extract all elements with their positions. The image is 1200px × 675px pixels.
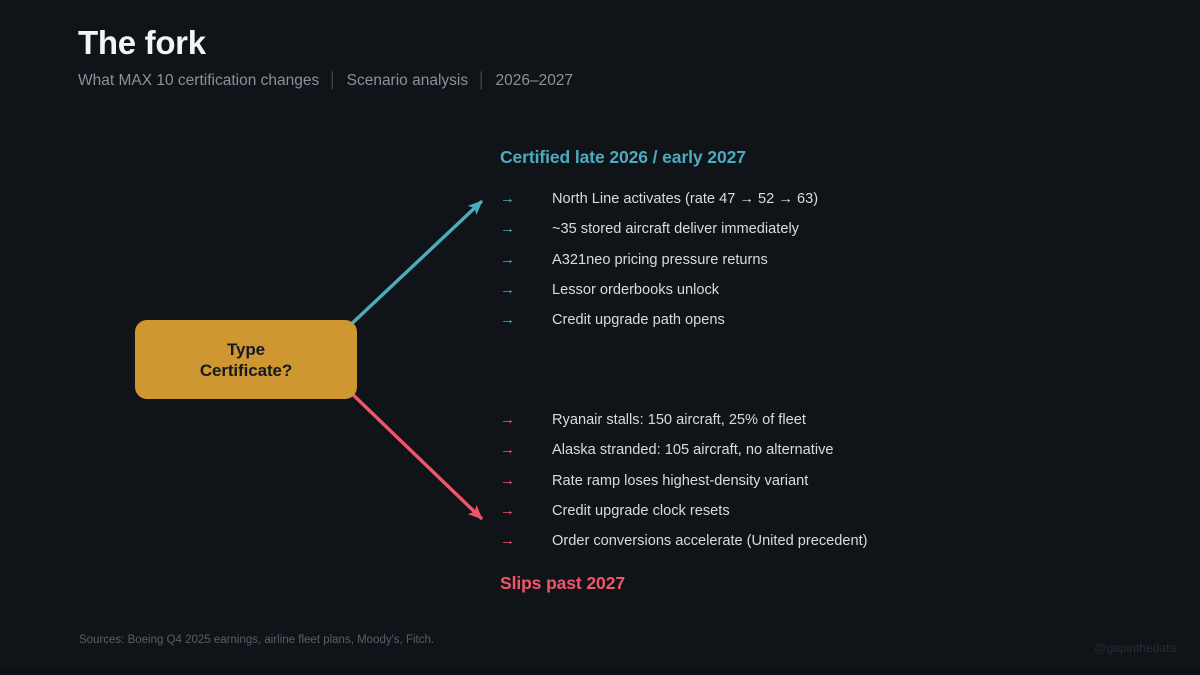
subtitle-separator-icon: │ [328,71,337,91]
list-item: → Rate ramp loses highest-density varian… [500,470,1040,500]
subtitle-separator-icon: │ [477,71,486,91]
decision-node-type-certificate[interactable]: Type Certificate? [135,320,357,399]
subtitle-part-period: 2026–2027 [495,71,573,91]
decision-node-label: Type Certificate? [200,339,292,381]
branch-heading-slips: Slips past 2027 [500,572,1040,594]
list-item-label: Rate ramp loses highest-density variant [552,470,808,492]
arrow-right-icon: → [500,470,552,492]
list-item: → A321neo pricing pressure returns [500,249,1040,279]
arrow-right-icon: → [500,249,552,271]
page-title: The fork [78,22,978,64]
decision-node-line2: Certificate? [200,361,292,380]
subtitle-bar: What MAX 10 certification changes │ Scen… [78,71,978,91]
list-item: → Lessor orderbooks unlock [500,279,1040,309]
list-item-label: A321neo pricing pressure returns [552,249,768,271]
list-item: → Order conversions accelerate (United p… [500,530,1040,560]
arrow-right-icon: → [500,409,552,431]
arrow-right-icon: → [500,279,552,301]
list-item: → North Line activates (rate 47 → 52 → 6… [500,188,1040,218]
arrow-right-icon: → [500,439,552,461]
branch-slips-list: → Ryanair stalls: 150 aircraft, 25% of f… [500,409,1040,560]
decision-node-line1: Type [227,340,265,359]
arrow-right-icon: → [500,530,552,552]
slide-canvas: The fork What MAX 10 certification chang… [0,0,1200,675]
list-item-label: Alaska stranded: 105 aircraft, no altern… [552,439,834,461]
list-item: → Alaska stranded: 105 aircraft, no alte… [500,439,1040,469]
list-item-label: Credit upgrade path opens [552,309,725,331]
arrow-right-icon: → [500,309,552,331]
subtitle-part-kind: Scenario analysis [347,71,468,91]
slide-header: The fork What MAX 10 certification chang… [78,22,978,91]
branch-heading-certified: Certified late 2026 / early 2027 [500,146,1040,168]
list-item-label: Lessor orderbooks unlock [552,279,719,301]
arrow-right-icon: → [500,188,552,210]
list-item-label: ~35 stored aircraft deliver immediately [552,218,799,240]
list-item: → Credit upgrade path opens [500,309,1040,339]
list-item: → ~35 stored aircraft deliver immediatel… [500,218,1040,248]
subtitle-part-topic: What MAX 10 certification changes [78,71,319,91]
watermark: @gapinthedata [1094,641,1176,656]
branch-slips: → Ryanair stalls: 150 aircraft, 25% of f… [500,409,1040,594]
sources-note: Sources: Boeing Q4 2025 earnings, airlin… [79,633,434,648]
list-item-label: North Line activates (rate 47 → 52 → 63) [552,188,818,210]
list-item: → Ryanair stalls: 150 aircraft, 25% of f… [500,409,1040,439]
list-item: → Credit upgrade clock resets [500,500,1040,530]
bottom-accent-bar [0,668,1200,675]
list-item-label: Ryanair stalls: 150 aircraft, 25% of fle… [552,409,806,431]
branch-certified: Certified late 2026 / early 2027 → North… [500,146,1040,339]
list-item-label: Order conversions accelerate (United pre… [552,530,868,552]
branch-certified-list: → North Line activates (rate 47 → 52 → 6… [500,188,1040,339]
arrow-right-icon: → [500,218,552,240]
list-item-label: Credit upgrade clock resets [552,500,730,522]
arrow-to-slips [346,388,481,518]
arrow-to-certified [345,202,481,330]
arrow-right-icon: → [500,500,552,522]
